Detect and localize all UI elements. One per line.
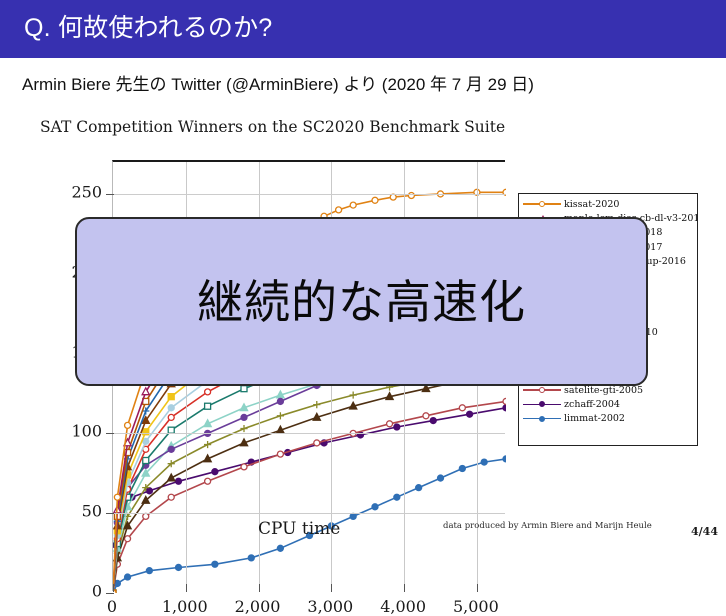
series-marker [277,451,283,457]
series-marker [394,424,400,430]
x-axis-tick [404,584,405,592]
legend-item-label: kissat-2020 [561,199,619,210]
series-marker [277,545,283,551]
series-marker [350,402,357,409]
series-marker [143,513,149,519]
series-marker [212,469,218,475]
series-marker [248,555,254,561]
series-marker [350,391,357,398]
callout-box: 継続的な高速化 [75,217,648,386]
grid-line-horizontal [113,194,505,195]
series-marker [438,475,444,481]
series-marker [241,414,247,420]
series-marker [143,438,149,444]
series-marker [390,194,396,200]
series-marker [204,441,211,448]
series-marker [205,389,211,395]
slide-subtitle: Armin Biere 先生の Twitter (@ArminBiere) より… [22,74,534,96]
legend-item: limmat-2002 [523,411,697,425]
chart-title: SAT Competition Winners on the SC2020 Be… [40,118,505,136]
series-marker [386,393,393,400]
series-marker [176,564,182,570]
x-axis-tick [186,584,187,592]
grid-line-horizontal [113,513,505,514]
series-marker [168,414,174,420]
series-marker [423,413,429,419]
x-axis-tick-label: 2,000 [235,597,281,616]
series-marker [241,386,247,392]
y-axis-tick [106,513,114,514]
series-marker [168,394,174,400]
series-marker [387,421,393,427]
series-marker [336,207,342,213]
legend-swatch-icon [523,413,561,425]
x-axis-tick [331,584,332,592]
series-marker [277,398,283,404]
series-marker [204,420,211,427]
series-marker [467,411,473,417]
y-axis-tick [106,433,114,434]
y-axis-tick-label: 100 [46,422,102,441]
y-axis-tick-label: 250 [46,182,102,201]
legend-item-label: zchaff-2004 [561,399,620,410]
series-marker [372,197,378,203]
legend-swatch-icon [523,398,561,410]
series-marker [350,202,356,208]
series-marker [503,405,506,411]
series-marker [125,536,131,542]
series-marker [168,405,174,411]
x-axis-tick [259,584,260,592]
series-marker [114,494,120,500]
series-marker [277,412,284,419]
series-marker [394,494,400,500]
x-axis-tick-label: 1,000 [162,597,208,616]
series-marker [313,401,320,408]
chart-credit: data produced by Armin Biere and Marijn … [443,521,652,531]
legend-item: kissat-2020 [523,197,697,211]
series-marker [146,568,152,574]
series-marker [313,413,320,420]
x-axis-tick-label: 5,000 [453,597,499,616]
series-marker [277,426,284,433]
legend-item-label: limmat-2002 [561,413,625,424]
series-marker [350,513,356,519]
series-marker [503,398,506,404]
legend-item: zchaff-2004 [523,397,697,411]
series-marker [240,404,247,411]
series-marker [459,405,465,411]
series-marker [241,464,247,470]
series-marker [143,458,149,464]
series-marker [240,425,247,432]
series-marker [430,418,436,424]
series-marker [146,488,152,494]
series-marker [204,455,211,462]
y-axis-tick [106,593,114,594]
series-marker [168,427,174,433]
slide-header-bar: Q. 何故使われるのか? [0,0,726,58]
series-marker [314,440,320,446]
series-marker [240,439,247,446]
grid-line-horizontal [113,433,505,434]
series-marker [481,459,487,465]
x-axis-tick [113,584,114,592]
series-marker [372,504,378,510]
callout-text: 継続的な高速化 [197,279,526,325]
series-marker [168,474,175,481]
series-marker [205,478,211,484]
series-marker [125,574,131,580]
series-marker [277,391,284,398]
series-marker [205,403,211,409]
series-marker [459,465,465,471]
series-marker [176,478,182,484]
x-axis-tick [477,584,478,592]
x-axis-tick-label: 0 [107,597,117,616]
y-axis-tick-label: 50 [46,502,102,521]
series-marker [503,456,506,462]
series-marker [212,561,218,567]
page-number: 4/44 [691,525,718,538]
x-axis-tick-label: 3,000 [307,597,353,616]
series-marker [168,494,174,500]
y-axis-tick-label: 0 [46,582,102,601]
series-marker [168,446,174,452]
page-title: Q. 何故使われるのか? [24,11,272,45]
x-axis-label: CPU time [258,519,340,539]
legend-swatch-icon [523,198,561,210]
series-marker [416,485,422,491]
series-marker [125,422,131,428]
legend-item-label: satelite-gti-2005 [561,385,643,396]
x-axis-tick-label: 4,000 [380,597,426,616]
y-axis-tick [106,194,114,195]
